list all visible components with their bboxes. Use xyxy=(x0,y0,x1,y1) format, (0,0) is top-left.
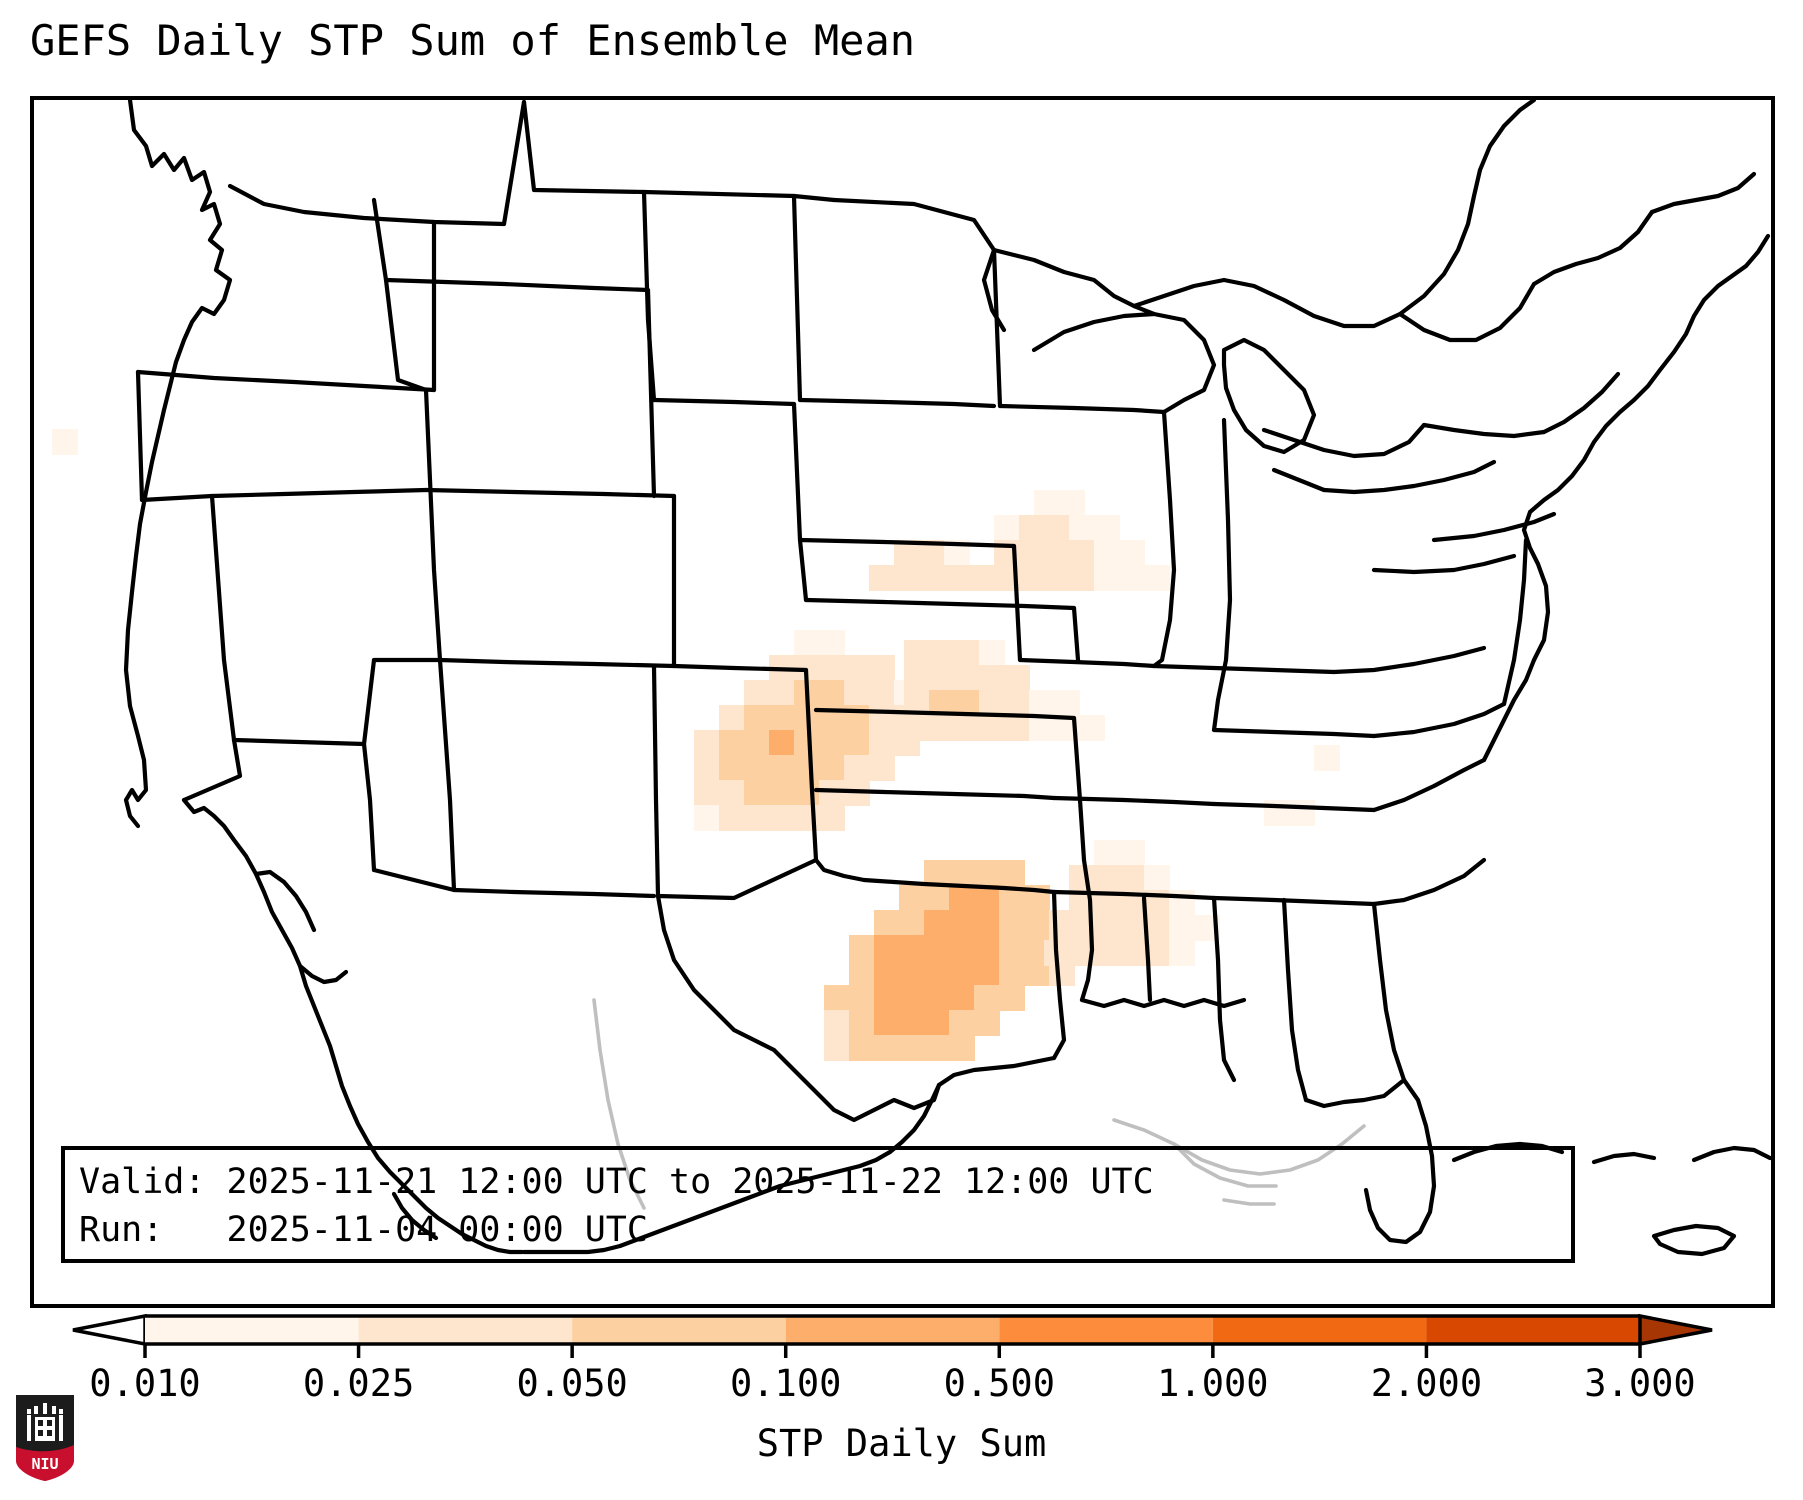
colorbar-segment xyxy=(359,1316,573,1344)
run-time-line: Run: 2025-11-04 00:00 UTC xyxy=(79,1206,1571,1254)
colorbar-under-arrow xyxy=(73,1316,145,1344)
colorbar-segment xyxy=(1213,1316,1427,1344)
colorbar-tick-label: 0.010 xyxy=(89,1362,200,1405)
colorbar-gradient xyxy=(0,1310,1803,1370)
colorbar-tick-label: 0.100 xyxy=(730,1362,841,1405)
colorbar-segment xyxy=(572,1316,786,1344)
figure-title: GEFS Daily STP Sum of Ensemble Mean xyxy=(30,16,915,65)
forecast-info-box: Valid: 2025-11-21 12:00 UTC to 2025-11-2… xyxy=(61,1146,1575,1263)
colorbar-segment xyxy=(145,1316,359,1344)
map-figure: GEFS Daily STP Sum of Ensemble Mean xyxy=(0,0,1803,1500)
colorbar-tick-label: 0.050 xyxy=(516,1362,627,1405)
niu-logo: NIU xyxy=(14,1393,76,1483)
geography-layer xyxy=(34,100,1771,1304)
colorbar-segment xyxy=(786,1316,1000,1344)
colorbar-segment xyxy=(999,1316,1213,1344)
colorbar: 0.0100.0250.0500.1000.5001.0002.0003.000… xyxy=(0,1310,1803,1500)
colorbar-tick-label: 0.500 xyxy=(944,1362,1055,1405)
colorbar-segment xyxy=(1426,1316,1640,1344)
map-plot-area xyxy=(30,96,1775,1308)
colorbar-tick-label: 3.000 xyxy=(1584,1362,1695,1405)
colorbar-tick-label: 1.000 xyxy=(1157,1362,1268,1405)
colorbar-axis-label: STP Daily Sum xyxy=(0,1422,1803,1465)
valid-time-line: Valid: 2025-11-21 12:00 UTC to 2025-11-2… xyxy=(79,1158,1571,1206)
colorbar-tick-label: 2.000 xyxy=(1371,1362,1482,1405)
logo-text: NIU xyxy=(31,1455,58,1473)
colorbar-over-arrow xyxy=(1640,1316,1712,1344)
colorbar-tick-label: 0.025 xyxy=(303,1362,414,1405)
map-canvas xyxy=(34,100,1771,1304)
